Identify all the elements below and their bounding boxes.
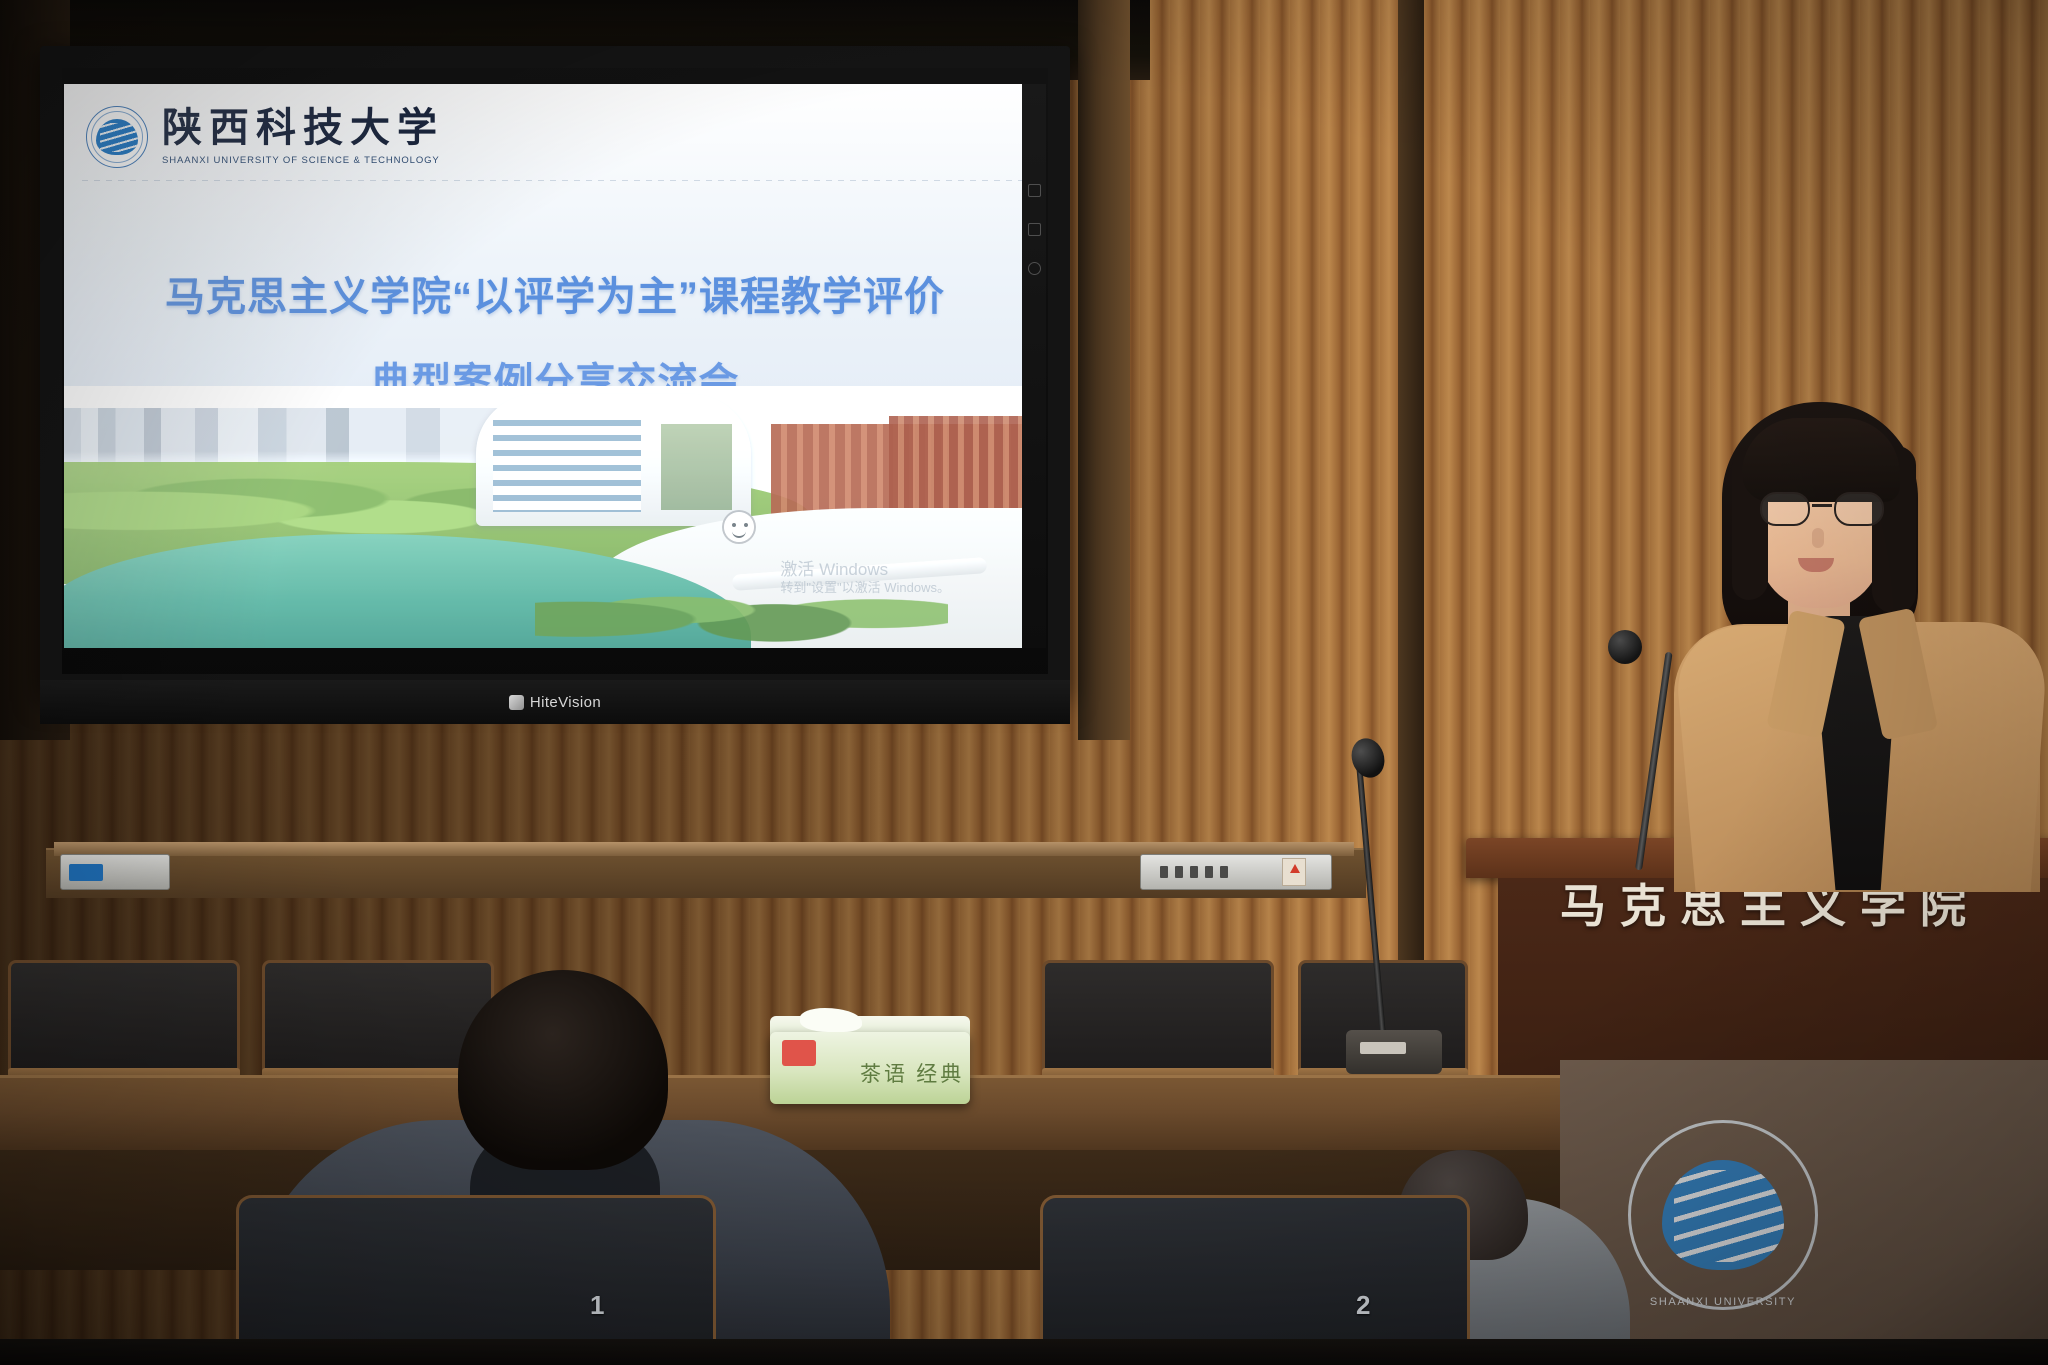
whiteboard-side-buttons[interactable] xyxy=(1022,84,1046,648)
wall-post-strip xyxy=(1398,0,1424,1080)
warning-triangle-icon xyxy=(1282,858,1306,886)
audience-head xyxy=(458,970,668,1170)
chair-back[interactable] xyxy=(8,960,240,1080)
capture-icon[interactable] xyxy=(1028,223,1041,236)
rack-port-row xyxy=(1160,866,1228,878)
screenshot-icon[interactable] xyxy=(1028,184,1041,197)
seat-number: 2 xyxy=(1356,1290,1370,1321)
gooseneck-microphone-icon[interactable] xyxy=(1608,630,1642,664)
hitevision-logo-icon xyxy=(509,695,524,710)
rack-device-left[interactable] xyxy=(60,854,170,890)
seat-number: 1 xyxy=(590,1290,604,1321)
podium-emblem-icon: SHAANXI UNIVERSITY xyxy=(1628,1120,1818,1310)
whiteboard-brand-label: HiteVision xyxy=(530,694,601,711)
front-rail xyxy=(0,1339,2048,1365)
settings-icon[interactable] xyxy=(1028,262,1041,275)
microphone-base[interactable] xyxy=(1346,1030,1442,1074)
whiteboard-brand-bar: HiteVision xyxy=(40,680,1070,724)
tissue-box-label xyxy=(782,1040,816,1066)
chair-back[interactable] xyxy=(1042,960,1274,1080)
speaker-body xyxy=(1674,600,2040,890)
whiteboard-bezel xyxy=(40,46,1070,696)
conference-room-scene: 陕西科技大学 SHAANXI UNIVERSITY OF SCIENCE & T… xyxy=(0,0,2048,1365)
podium-emblem-caption: SHAANXI UNIVERSITY xyxy=(1628,1296,1818,1308)
wall-post xyxy=(1078,0,1130,740)
glasses-icon xyxy=(1758,492,1886,526)
speaker-person xyxy=(1676,400,2036,880)
tissue-box-text: 茶语 经典 xyxy=(860,1058,964,1088)
